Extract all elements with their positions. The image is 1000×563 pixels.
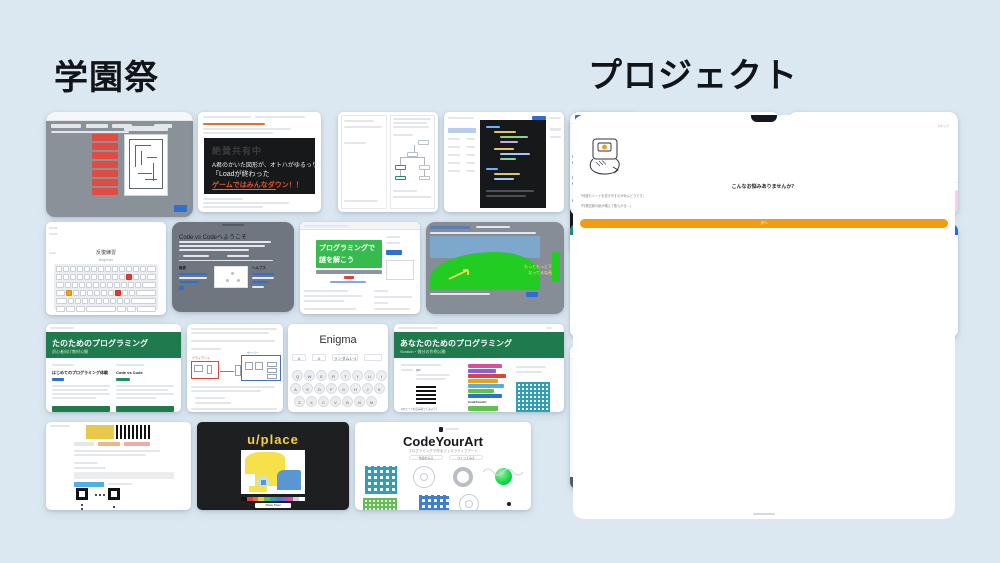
rotor-select-1[interactable]: A — [292, 354, 306, 361]
home-indicator — [753, 513, 775, 515]
rotor-select-3[interactable]: ランダム1~3 — [332, 354, 358, 361]
gallery-projects: Edit nodes — [570, 112, 958, 522]
art-pattern-green — [363, 498, 397, 510]
toolbar-field — [86, 124, 108, 128]
card-title: はじめてのプログラミング体験 — [52, 370, 108, 376]
thumb-qr-code-worksheet[interactable] — [46, 422, 191, 510]
pixel-canvas[interactable] — [241, 450, 305, 494]
onboarding-body-2: 「作業記録の紙が増えて散らかる…」 — [579, 204, 949, 209]
code-canvas — [480, 120, 546, 208]
thumb-puzzle-browser-green-banner[interactable]: プログラミングで 謎を解こう — [300, 222, 420, 314]
place-title: u/place — [197, 432, 349, 447]
art-gear-3-hub — [465, 500, 473, 508]
next-button[interactable]: 次へ — [580, 219, 948, 228]
thumb-dark-slide-presentation[interactable]: 絶賛共有中 A君のかいた図形が、オトハがゆるっりと 「Loadが終わった ゲーム… — [198, 112, 321, 212]
onboarding-body-1: 「何度もシートを書き写すのがめんどうです」 — [579, 194, 949, 199]
yellow-arrow — [448, 268, 470, 280]
enigma-title: Enigma — [288, 334, 388, 346]
slide-canvas: 絶賛共有中 A君のかいた図形が、オトハがゆるっりと 「Loadが終わった ゲーム… — [204, 138, 315, 194]
key-row-3[interactable]: ZX CV BN M — [292, 396, 384, 408]
thumb-green-landscape-tablet[interactable]: もっともっと下に なってるね長い — [426, 222, 564, 314]
place-pixel-button[interactable]: Place Pixel — [255, 503, 291, 508]
thumb-mobile-onboarding-phone[interactable]: スキップ こんなお悩みありませんか？ 「何度もシートを書き写すのがめんどうです」… — [570, 112, 642, 256]
art-pill-2[interactable]: つくってみる — [449, 455, 483, 460]
slide-ghost-text: 絶賛共有中 — [212, 144, 262, 157]
hero-title: たのためのプログラミング — [52, 338, 148, 349]
art-pattern-teal — [365, 466, 397, 494]
art-gear-1-hub — [420, 473, 428, 481]
highlight-row — [74, 482, 104, 487]
diagram-label-left: クライアント — [192, 356, 210, 360]
section-title-school-festival: 学園祭 — [54, 50, 159, 99]
art-subtitle: プログラミングで作るジェネラティブアート — [355, 449, 531, 454]
tree-heading — [393, 118, 431, 120]
qr-heading: QR — [416, 368, 421, 372]
art-title: CodeYourArt — [355, 434, 531, 449]
hero-banner: たのためのプログラミング 初心者向け教材公開 — [46, 332, 181, 358]
banner-line-1: プログラミングで — [319, 243, 375, 253]
thumb-typing-keyboard-drill[interactable]: 反復練習 Beginner — [46, 222, 166, 315]
rotor-select-4[interactable] — [364, 354, 382, 361]
thumb-enigma-keyboard[interactable]: Enigma A A ランダム1~3 QW ER TY UI AS DF GH … — [288, 324, 388, 412]
thumb-document-with-decision-tree[interactable] — [338, 112, 438, 212]
art-pattern-blue — [419, 495, 449, 510]
key-row-2[interactable]: AS DF GH JK — [292, 383, 384, 395]
gallery-page: 学園祭 プロジェクト — [0, 0, 1000, 563]
slide-line-1: A君のかいた図形が、オトハがゆるっりと — [212, 160, 321, 169]
art-pill-1[interactable]: 作品をみる — [409, 455, 443, 460]
qr-caption: QRコードを読み取ってみよう！ — [401, 407, 438, 411]
onboarding-illustration — [583, 137, 629, 177]
thumb-code-editor-dark[interactable] — [444, 112, 564, 212]
section-title-projects: プロジェクト — [588, 48, 798, 97]
tab-label — [448, 117, 474, 119]
brand-mark-icon — [439, 427, 443, 432]
column-right-title: ヘルプス — [252, 266, 266, 271]
thumb-maze-blockly-tablet[interactable] — [46, 112, 193, 217]
column-left-title: 概要 — [179, 266, 186, 271]
key-row-1[interactable]: QW ER TY UI — [292, 370, 384, 382]
virtual-keyboard[interactable] — [54, 264, 158, 310]
tablet-screen: もっともっと下に なってるね長い — [426, 222, 544, 306]
thumb-code-vs-code-tablet[interactable]: Code vs Codeへようこそ 概要 ヘルプス — [172, 222, 294, 312]
hero-banner: あなたのためのプログラミング Scratch・微分の作例公開 — [394, 332, 564, 358]
card-title: Code vs Code — [116, 370, 143, 375]
block-palette[interactable] — [92, 134, 118, 196]
breadcrumb — [51, 131, 129, 133]
thumb-system-architecture-diagram[interactable]: クライアント サーバー — [187, 324, 283, 412]
thumb-programming-course-doc-b[interactable]: あなたのためのプログラミング Scratch・微分の作例公開 QR QRコードを… — [394, 324, 564, 412]
gallery-school-festival: 絶賛共有中 A君のかいた図形が、オトハがゆるっりと 「Loadが終わった ゲーム… — [46, 112, 536, 522]
art-dot — [507, 502, 511, 506]
page-title: Code vs Codeへようこそ — [179, 232, 247, 241]
thumb-code-your-art[interactable]: CodeYourArt プログラミングで作るジェネラティブアート 作品をみる つ… — [355, 422, 531, 510]
cta-button-1[interactable] — [52, 406, 110, 412]
skip-label[interactable]: スキップ — [937, 124, 949, 128]
slide-line-2: 「Loadが終わった — [212, 169, 270, 179]
run-button[interactable] — [174, 205, 187, 212]
drill-subtitle: Beginner — [46, 258, 166, 262]
art-gear-2 — [453, 467, 473, 487]
qr-code — [416, 384, 436, 404]
tablet-screen — [46, 112, 177, 201]
pattern-preview — [516, 382, 550, 412]
thumb-programming-course-doc-a[interactable]: たのためのプログラミング 初心者向け教材公開 はじめてのプログラミング体験 Co… — [46, 324, 181, 412]
onboarding-headline: こんなお悩みありませんか？ — [573, 183, 955, 190]
hero-title: あなたのためのプログラミング — [400, 338, 512, 349]
drill-title: 反復練習 — [46, 249, 166, 256]
preview-label — [549, 117, 561, 119]
app-toolbar — [46, 112, 193, 121]
cta-button-2[interactable] — [116, 406, 174, 412]
tablet-screen: Code vs Codeへようこそ 概要 ヘルプス — [172, 222, 280, 300]
phone-screen: スキップ こんなお悩みありませんか？ 「何度もシートを書き写すのがめんどうです」… — [573, 115, 955, 519]
rotor-select-2[interactable]: A — [312, 354, 326, 361]
diagram-label-right: サーバー — [247, 351, 259, 355]
art-wave — [483, 466, 527, 478]
toolbar-field — [51, 124, 81, 128]
color-palette[interactable] — [241, 497, 305, 501]
phone-notch — [751, 115, 777, 122]
maze-canvas — [124, 134, 168, 196]
thumb-u-place-pixel-canvas[interactable]: u/place Place Pixel — [197, 422, 349, 510]
green-banner: プログラミングで 謎を解こう — [316, 240, 382, 268]
hero-subtitle: 初心者向け教材公開 — [52, 349, 88, 355]
hero-subtitle: Scratch・微分の作例公開 — [400, 349, 446, 355]
diagram-box — [214, 266, 248, 288]
banner-line-2: 謎を解こう — [319, 255, 354, 265]
scratch-label: CodeYourArt — [468, 400, 486, 404]
